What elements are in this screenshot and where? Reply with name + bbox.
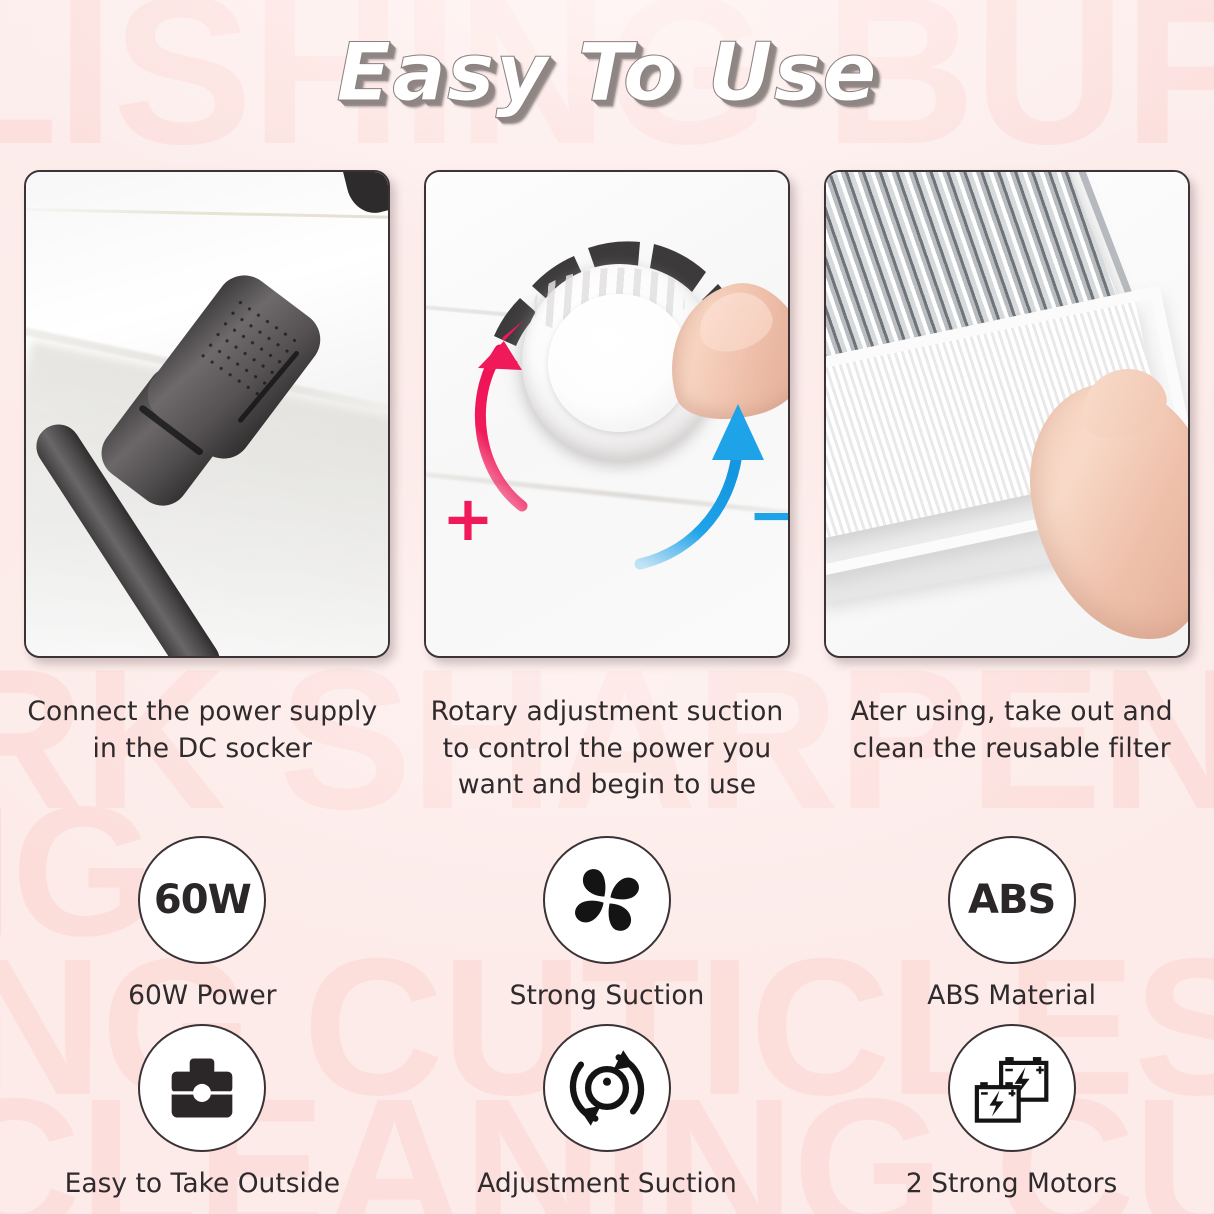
feature-easy-to-take-outside: Easy to Take Outside (0, 1024, 405, 1204)
feature-2-strong-motors: 2 Strong Motors (809, 1024, 1214, 1204)
dial-direction-annotations: + − (426, 172, 788, 656)
photo-content (826, 172, 1188, 656)
increase-plus-symbol: + (442, 482, 494, 555)
abs-badge: ABS (948, 836, 1076, 964)
60w-text-icon: 60W (154, 880, 251, 920)
rotary-dial-photo: + − (424, 170, 790, 658)
fan-blade-icon (564, 857, 650, 943)
abs-text-icon: ABS (968, 880, 1055, 920)
step-caption: Rotary adjustment suction to control the… (405, 694, 810, 804)
page-title: Easy To Use (336, 26, 877, 119)
photo-card-row: + − (24, 170, 1190, 654)
toolbox-icon (161, 1047, 243, 1129)
rotation-arrows-icon (562, 1043, 652, 1133)
feature-adjustment-suction: Adjustment Suction (405, 1024, 810, 1204)
dc-power-connector-photo (24, 170, 390, 658)
photo-content (26, 172, 388, 656)
feature-label: Adjustment Suction (477, 1168, 737, 1199)
rotation-badge (543, 1024, 671, 1152)
feature-label: Strong Suction (510, 980, 705, 1011)
step-caption: Ater using, take out and clean the reusa… (809, 694, 1214, 804)
decrease-arrow-icon (640, 404, 764, 564)
feature-label: 2 Strong Motors (906, 1168, 1117, 1199)
toolbox-badge (138, 1024, 266, 1152)
feature-60w-power: 60W 60W Power (0, 836, 405, 1016)
feature-label: ABS Material (927, 980, 1096, 1011)
batteries-badge (948, 1024, 1076, 1152)
increase-arrow-icon (478, 320, 524, 506)
60w-badge: 60W (138, 836, 266, 964)
plug-texture-dots (194, 294, 304, 404)
feature-abs-material: ABS ABS Material (809, 836, 1214, 1016)
decrease-minus-symbol: − (748, 478, 788, 551)
title-bar: Easy To Use (0, 26, 1214, 119)
feature-label: Easy to Take Outside (65, 1168, 340, 1199)
caption-row: Connect the power supply in the DC socke… (0, 694, 1214, 804)
fan-badge (543, 836, 671, 964)
feature-label: 60W Power (128, 980, 276, 1011)
feature-grid: 60W 60W Power Strong Suction ABS ABS Mat… (0, 836, 1214, 1204)
two-batteries-icon (966, 1042, 1058, 1134)
reusable-filter-photo (824, 170, 1190, 658)
feature-strong-suction: Strong Suction (405, 836, 810, 1016)
photo-content: + − (426, 172, 788, 656)
step-caption: Connect the power supply in the DC socke… (0, 694, 405, 804)
